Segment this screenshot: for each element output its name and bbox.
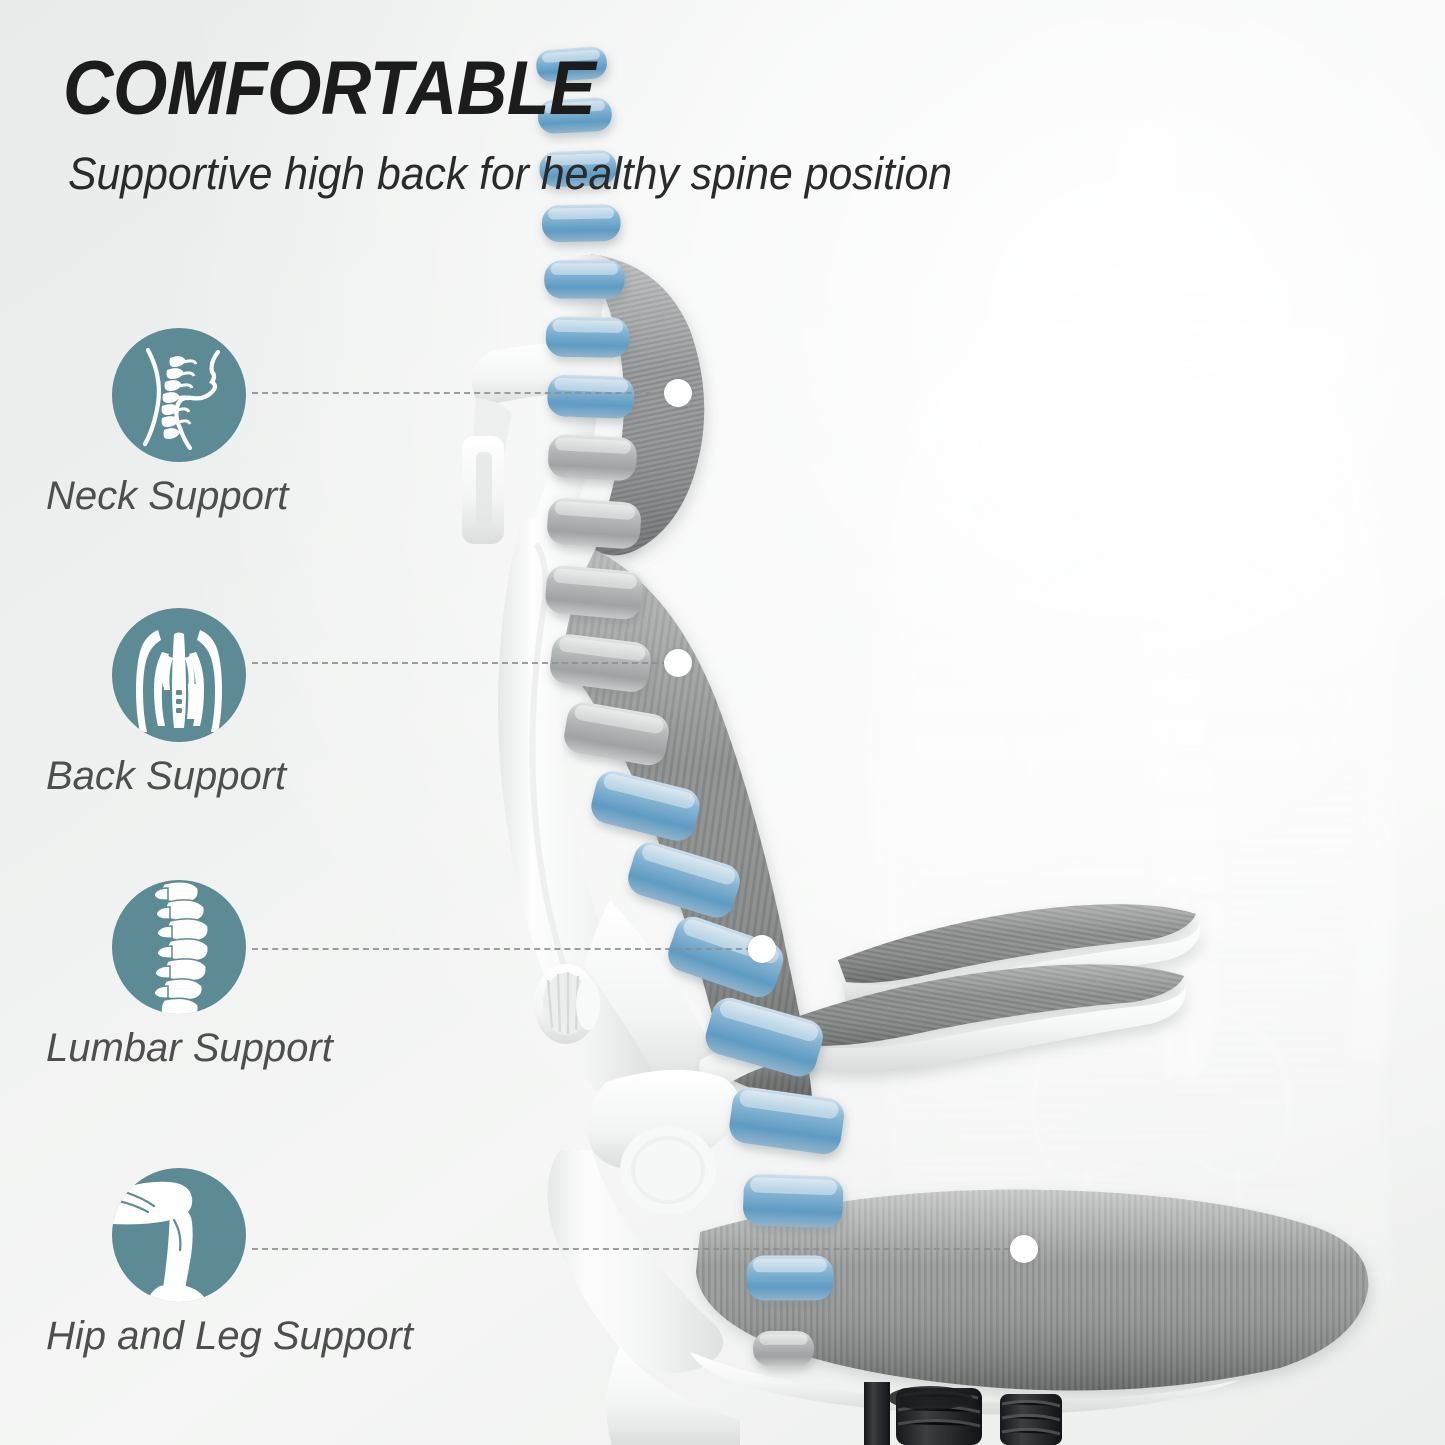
- neck-support-badge[interactable]: [112, 328, 246, 462]
- gas-cylinder-black: [864, 1382, 1062, 1445]
- vertebra: [561, 700, 671, 768]
- tilt-pivot-cap: [588, 1070, 740, 1214]
- vertebra: [546, 316, 630, 358]
- vertebra: [547, 374, 635, 419]
- vertebra-highlight: [718, 999, 820, 1044]
- hotspot-neck-support[interactable]: [664, 379, 692, 407]
- ghost-skeleton-xray-illustration: [835, 120, 1445, 1300]
- vertebra: [547, 434, 637, 482]
- vertebra: [588, 767, 704, 844]
- vertebra-highlight: [602, 772, 696, 810]
- vertebra-highlight: [750, 1177, 837, 1195]
- feature-label-neck-support: Neck Support: [46, 468, 288, 524]
- page-title: COMFORTABLE: [63, 46, 595, 132]
- lumbar-adjust-knob: [534, 964, 600, 1044]
- connector-back-support: [252, 662, 688, 664]
- vertebra: [544, 260, 624, 299]
- vertebra: [753, 1331, 814, 1366]
- backrest-gray-mesh: [560, 548, 812, 1097]
- connector-lumbar-support: [252, 948, 772, 950]
- seat-white-shell: [548, 1150, 1241, 1445]
- vertebra-highlight: [759, 1334, 807, 1345]
- backrest-white-frame: [498, 517, 715, 1100]
- vertebra: [544, 564, 644, 620]
- back-support-badge[interactable]: [112, 608, 246, 742]
- feature-label-hip-and-leg-support: Hip and Leg Support: [46, 1308, 413, 1364]
- hip-and-leg-support-badge[interactable]: [112, 1168, 246, 1302]
- lumbar-vertebrae-icon: [112, 880, 246, 1014]
- connector-hip-and-leg-support: [252, 1248, 1040, 1250]
- vertebra-highlight: [551, 263, 618, 275]
- infographic-canvas: COMFORTABLE Supportive high back for hea…: [0, 0, 1445, 1445]
- lumbar-support-badge[interactable]: [112, 880, 246, 1014]
- connector-neck-support: [252, 392, 672, 394]
- vertebra-highlight: [739, 1089, 840, 1120]
- vertebra: [624, 838, 744, 922]
- vertebra-highlight: [555, 437, 631, 454]
- vertebra: [542, 204, 621, 242]
- seat-gray-mesh: [696, 1190, 1368, 1391]
- hotspot-lumbar-support[interactable]: [748, 935, 776, 963]
- vertebra-highlight: [548, 207, 614, 219]
- vertebra: [727, 1085, 846, 1156]
- headrest-white-bracket: [462, 254, 618, 548]
- feature-label-lumbar-support: Lumbar Support: [46, 1020, 333, 1076]
- vertebra: [743, 1174, 844, 1229]
- vertebra-highlight: [554, 378, 628, 393]
- back-torso-spine-icon: [112, 608, 246, 742]
- vertebra: [546, 497, 642, 550]
- vertebra: [747, 1256, 834, 1301]
- hotspot-back-support[interactable]: [664, 649, 692, 677]
- vertebra-highlight: [554, 501, 635, 521]
- page-subtitle: Supportive high back for healthy spine p…: [68, 145, 952, 203]
- vertebra-highlight: [552, 320, 623, 333]
- bent-leg-knee-icon: [112, 1168, 246, 1302]
- armrest-lower: [699, 964, 1186, 1092]
- vertebra-highlight: [558, 636, 646, 661]
- vertebra-highlight: [753, 1259, 827, 1272]
- headrest-mesh-pad: [591, 254, 704, 555]
- vertebra-highlight: [640, 843, 737, 887]
- vertebra: [701, 994, 827, 1081]
- feature-label-back-support: Back Support: [46, 748, 286, 804]
- armrest-upper-flip-up: [838, 904, 1200, 1007]
- vertebra-highlight: [573, 704, 664, 735]
- hotspot-hip-and-leg-support[interactable]: [1010, 1235, 1038, 1263]
- vertebra-highlight: [553, 568, 637, 590]
- neck-spine-profile-icon: [112, 328, 246, 462]
